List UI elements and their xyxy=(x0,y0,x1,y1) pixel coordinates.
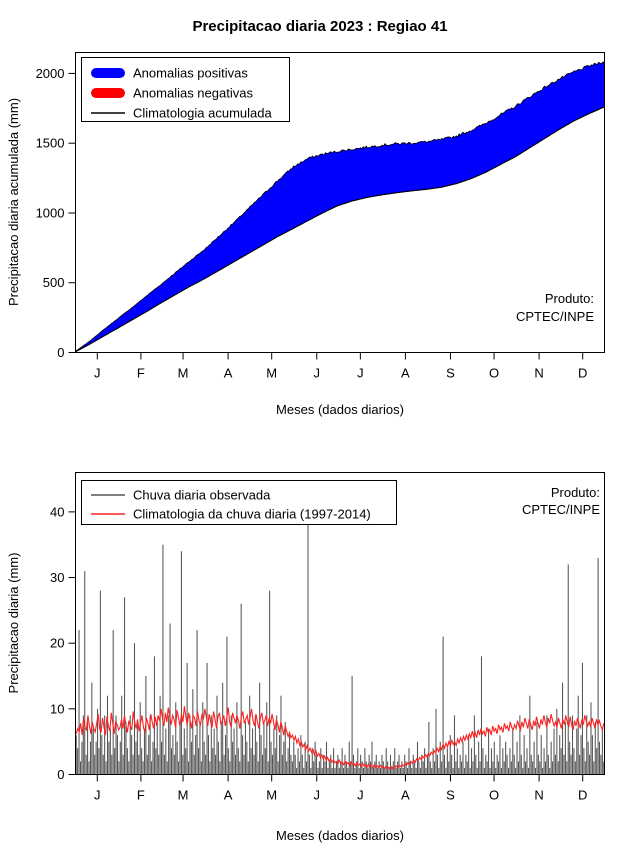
bottom-credit-line2: CPTEC/INPE xyxy=(522,502,600,517)
accumulated-x-tick-label: F xyxy=(137,366,145,381)
daily-x-axis-title: Meses (dados diarios) xyxy=(276,828,404,843)
accumulated-x-tick-label: S xyxy=(446,366,455,381)
accumulated-x-tick-label: A xyxy=(224,366,233,381)
accumulated-y-tick-label: 0 xyxy=(57,345,64,360)
daily-x-tick-label: F xyxy=(137,788,145,803)
accumulated-x-tick-label: J xyxy=(94,366,101,381)
legend-swatch-0 xyxy=(91,68,125,78)
daily-x-tick-label: S xyxy=(446,788,455,803)
accumulated-x-tick-label: M xyxy=(266,366,277,381)
daily-x-tick-label: J xyxy=(357,788,364,803)
accumulated-legend-label-0: Anomalias positivas xyxy=(133,66,248,81)
daily-legend-label-0: Chuva diaria observada xyxy=(133,488,271,503)
daily-legend: Chuva diaria observadaClimatologia da ch… xyxy=(82,481,397,525)
accumulated-y-tick-label: 1000 xyxy=(36,205,65,220)
legend-swatch-1 xyxy=(91,88,125,98)
accumulated-x-tick-label: A xyxy=(401,366,410,381)
daily-x-tick-label: J xyxy=(313,788,320,803)
daily-y-tick-label: 20 xyxy=(50,636,64,651)
daily-x-tick-label: J xyxy=(94,788,101,803)
daily-y-tick-label: 40 xyxy=(50,504,64,519)
daily-y-tick-label: 0 xyxy=(57,767,64,782)
accumulated-y-axis-title: Precipitacao diaria acumulada (mm) xyxy=(6,98,21,306)
accumulated-legend-label-2: Climatologia acumulada xyxy=(133,106,273,121)
accumulated-x-tick-label: N xyxy=(534,366,543,381)
accumulated-y-tick-label: 2000 xyxy=(36,66,65,81)
daily-x-tick-label: A xyxy=(224,788,233,803)
daily-y-tick-label: 10 xyxy=(50,701,64,716)
accumulated-x-tick-label: D xyxy=(578,366,587,381)
daily-x-tick-label: M xyxy=(266,788,277,803)
daily-y-axis-title: Precipitacao diaria (mm) xyxy=(6,553,21,694)
accumulated-legend: Anomalias positivasAnomalias negativasCl… xyxy=(82,58,290,122)
daily-y-tick-label: 30 xyxy=(50,570,64,585)
daily-x-tick-label: O xyxy=(489,788,499,803)
accumulated-y-tick-label: 1500 xyxy=(36,136,65,151)
daily-x-tick-label: A xyxy=(401,788,410,803)
accumulated-legend-label-1: Anomalias negativas xyxy=(133,86,253,101)
daily-x-tick-label: D xyxy=(578,788,587,803)
daily-x-tick-label: M xyxy=(178,788,189,803)
top-credit-line1: Produto: xyxy=(545,291,594,306)
bottom-credit-line1: Produto: xyxy=(551,485,600,500)
precipitation-figure: Precipitacao diaria 2023 : Regiao 41 050… xyxy=(0,0,640,850)
accumulated-x-tick-label: J xyxy=(357,366,364,381)
figure-root: Precipitacao diaria 2023 : Regiao 41 050… xyxy=(0,0,640,850)
accumulated-x-tick-label: J xyxy=(313,366,320,381)
accumulated-x-axis-title: Meses (dados diarios) xyxy=(276,402,404,417)
daily-x-tick-label: N xyxy=(534,788,543,803)
accumulated-x-tick-label: M xyxy=(178,366,189,381)
top-credit-line2: CPTEC/INPE xyxy=(516,309,594,324)
accumulated-y-tick-label: 500 xyxy=(43,275,65,290)
daily-legend-label-1: Climatologia da chuva diaria (1997-2014) xyxy=(133,507,371,522)
page-title: Precipitacao diaria 2023 : Regiao 41 xyxy=(192,18,447,35)
accumulated-x-tick-label: O xyxy=(489,366,499,381)
